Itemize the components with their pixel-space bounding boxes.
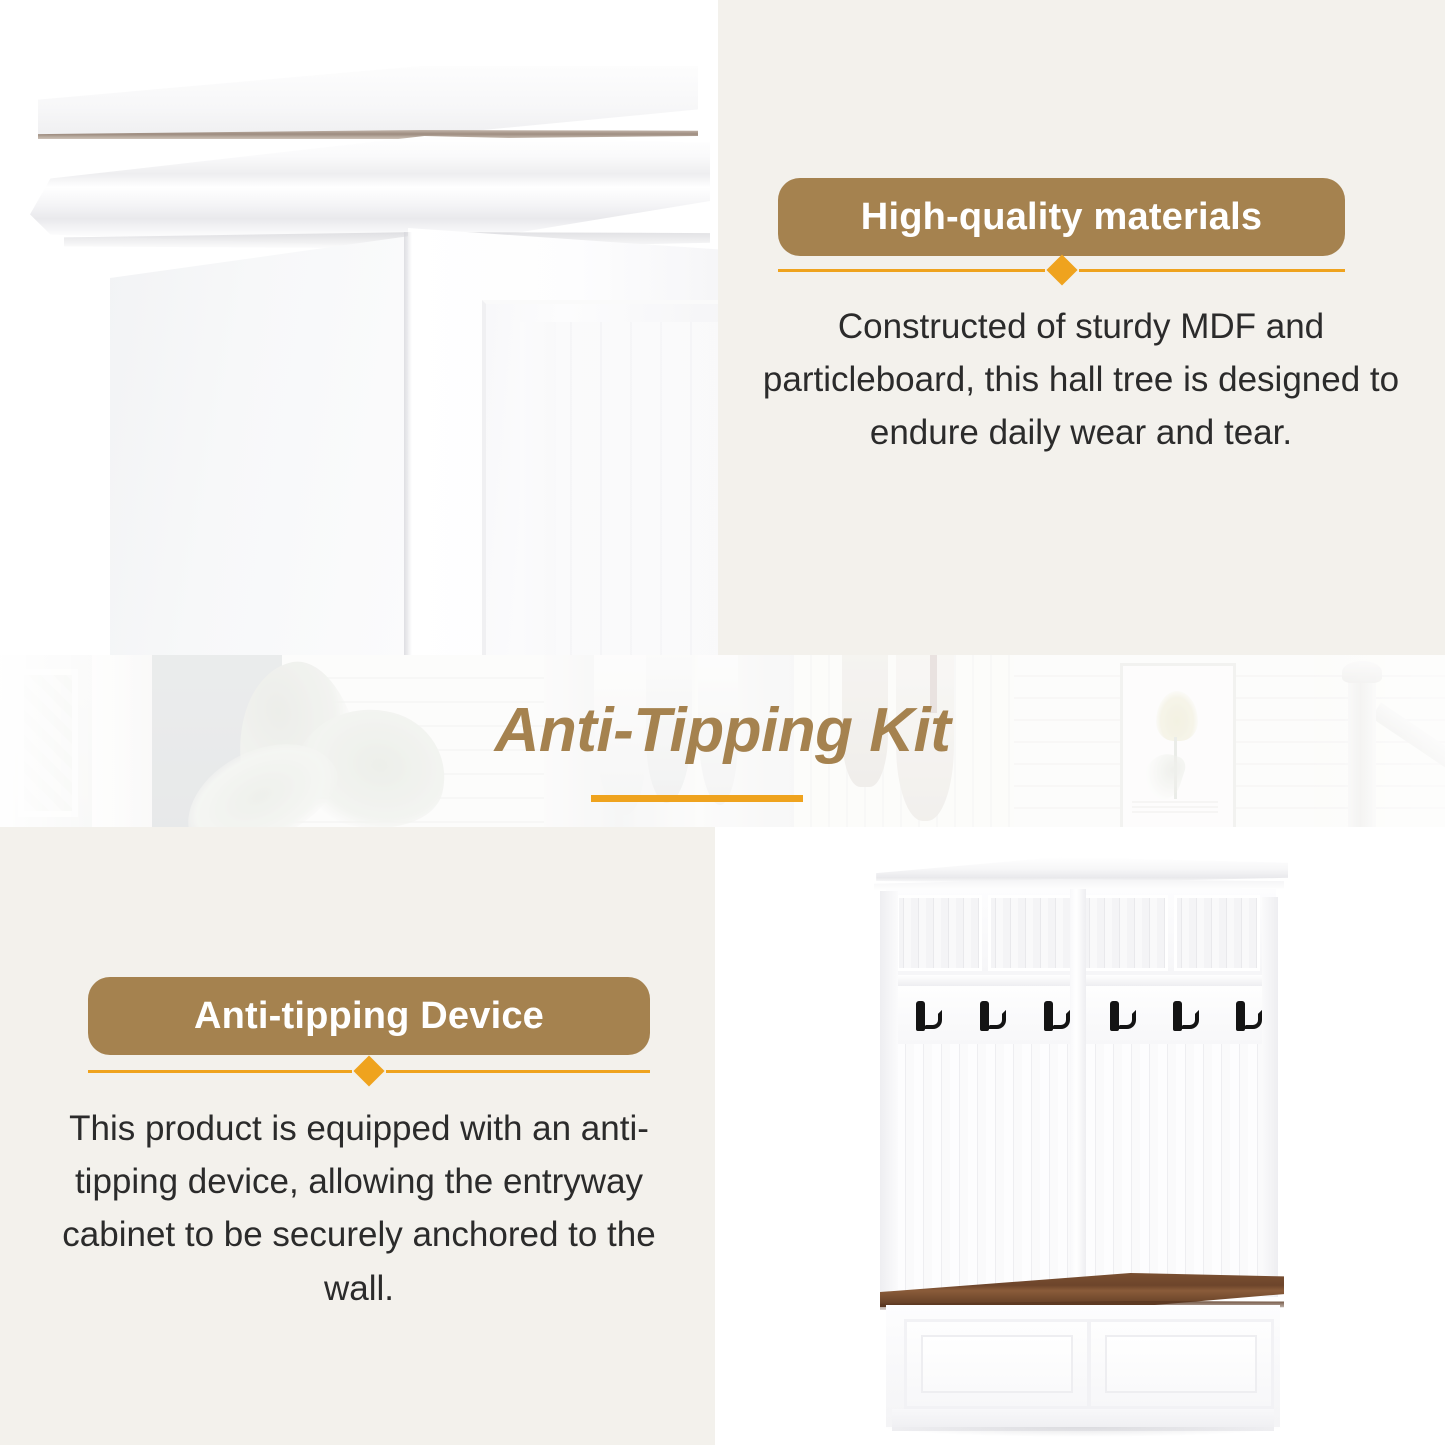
materials-description: Constructed of sturdy MDF and particlebo… bbox=[738, 300, 1424, 460]
coat-hook-icon-6 bbox=[1236, 1001, 1245, 1031]
diamond-icon bbox=[353, 1055, 384, 1086]
beadboard-panel-right bbox=[1086, 1044, 1262, 1294]
coat-hook-icon-2 bbox=[980, 1001, 989, 1031]
cubby-2 bbox=[988, 895, 1074, 971]
cabinet-side-panel bbox=[110, 236, 410, 655]
beadboard-panel-left bbox=[896, 1044, 1072, 1294]
cabinet-top-surface bbox=[38, 66, 698, 136]
divider-line-left bbox=[778, 269, 1045, 272]
side-panel-right bbox=[1262, 897, 1278, 1297]
cabinet-corner-edge bbox=[404, 232, 412, 655]
anti-tipping-badge: Anti-tipping Device bbox=[88, 977, 650, 1055]
anti-tipping-divider bbox=[88, 1059, 650, 1083]
cabinet-beadboard-back bbox=[556, 322, 718, 655]
hall-tree-shadow bbox=[880, 1427, 1286, 1437]
side-panel-left bbox=[880, 891, 898, 1297]
anti-tipping-description: This product is equipped with an anti-ti… bbox=[28, 1102, 690, 1315]
divider-line-left bbox=[88, 1070, 352, 1073]
materials-badge: High-quality materials bbox=[778, 178, 1345, 256]
coat-hook-icon-3 bbox=[1044, 1001, 1053, 1031]
cubby-1 bbox=[896, 895, 982, 971]
cabinet-crown-molding bbox=[30, 136, 710, 248]
anti-tipping-device-panel: Anti-tipping Device This product is equi… bbox=[0, 827, 715, 1445]
divider-line-right bbox=[386, 1070, 650, 1073]
cabinet-corner-photo bbox=[0, 0, 718, 655]
infographic-page: High-quality materials Constructed of st… bbox=[0, 0, 1445, 1445]
materials-panel: High-quality materials Constructed of st… bbox=[718, 0, 1445, 655]
cubby-4 bbox=[1174, 895, 1260, 971]
coat-hook-icon-1 bbox=[916, 1001, 925, 1031]
diamond-icon bbox=[1046, 254, 1077, 285]
center-divider-post bbox=[1070, 889, 1086, 1297]
hall-tree-illustration bbox=[870, 849, 1290, 1445]
hall-tree-photo bbox=[715, 827, 1445, 1445]
materials-divider bbox=[778, 258, 1345, 282]
coat-hook-icon-4 bbox=[1110, 1001, 1119, 1031]
cubby-3 bbox=[1082, 895, 1168, 971]
bench-drawer-2 bbox=[1088, 1319, 1274, 1409]
divider-line-right bbox=[1079, 269, 1346, 272]
hall-tree-crown-molding bbox=[872, 857, 1288, 883]
bench-drawer-1 bbox=[904, 1319, 1090, 1409]
anti-tipping-kit-title: Anti-Tipping Kit bbox=[0, 695, 1445, 766]
band-title-underline bbox=[591, 795, 803, 802]
anti-tipping-kit-band: Anti-Tipping Kit bbox=[0, 655, 1445, 827]
cabinet-corner-illustration bbox=[0, 0, 718, 655]
coat-hook-icon-5 bbox=[1173, 1001, 1182, 1031]
